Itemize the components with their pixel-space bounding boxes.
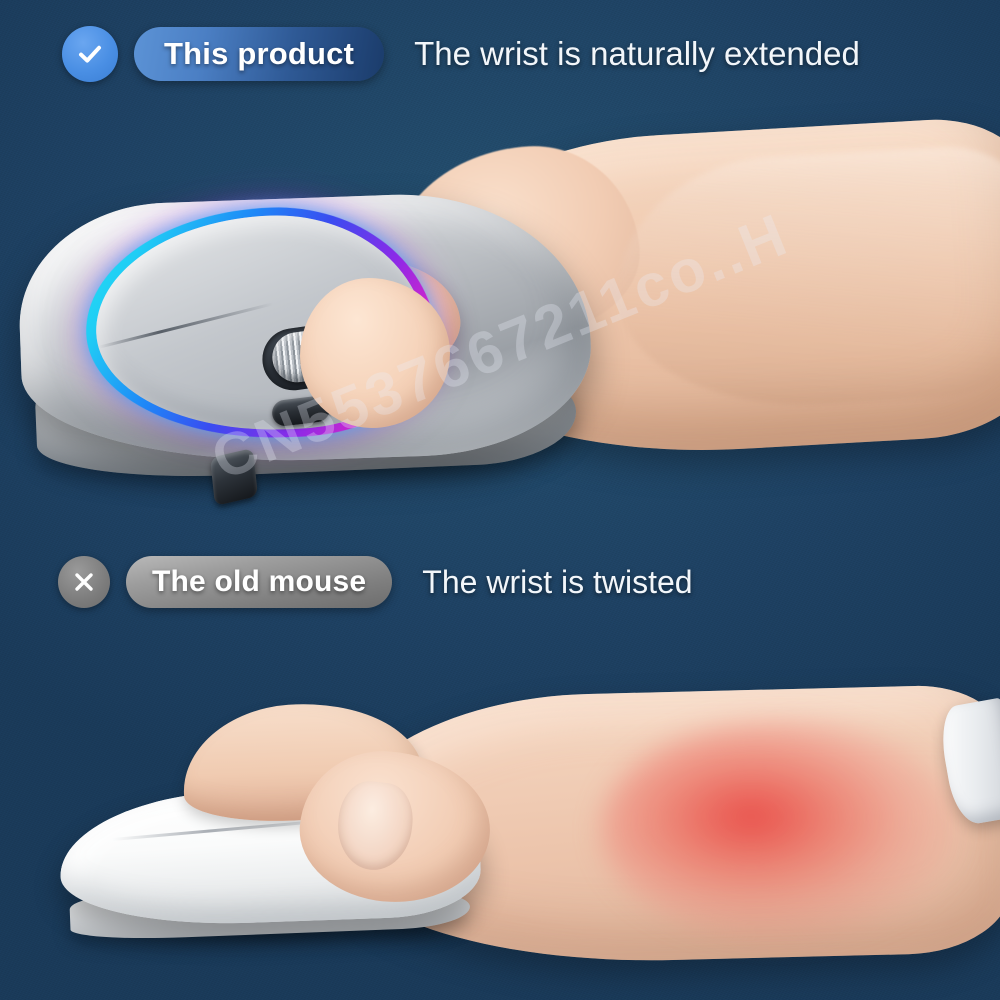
check-icon bbox=[62, 26, 118, 82]
old-mouse-headline: The wrist is twisted bbox=[422, 564, 692, 601]
mouse-thumb-button bbox=[210, 448, 258, 506]
old-mouse-pill: The old mouse bbox=[126, 556, 392, 608]
this-product-label-row: This product The wrist is naturally exte… bbox=[62, 26, 860, 82]
x-icon bbox=[58, 556, 110, 608]
this-product-pill-label: This product bbox=[164, 36, 354, 72]
this-product-pill: This product bbox=[134, 27, 384, 81]
product-comparison-stage: CN5537667211co..H This product The wrist… bbox=[0, 0, 1000, 1000]
old-mouse-pill-label: The old mouse bbox=[152, 565, 366, 599]
this-product-headline: The wrist is naturally extended bbox=[414, 35, 860, 73]
old-mouse-label-row: The old mouse The wrist is twisted bbox=[58, 556, 693, 608]
thumb bbox=[300, 278, 450, 428]
ergonomic-mouse-scene bbox=[0, 110, 1000, 510]
old-mouse-scene bbox=[0, 640, 1000, 1000]
